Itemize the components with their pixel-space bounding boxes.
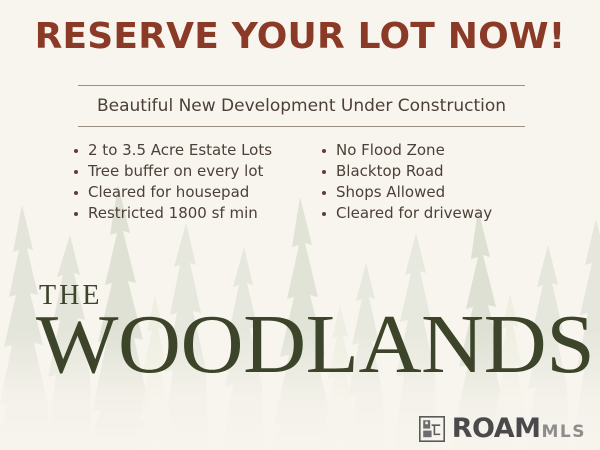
- promotional-poster: RESERVE YOUR LOT NOW! Beautiful New Deve…: [0, 0, 600, 450]
- roam-mls-text: ROAM MLS: [452, 415, 586, 442]
- list-item: Tree buffer on every lot: [70, 161, 292, 182]
- subtitle-text: Beautiful New Development Under Construc…: [78, 86, 525, 126]
- list-item: Blacktop Road: [318, 161, 540, 182]
- list-item: Cleared for driveway: [318, 203, 540, 224]
- feature-list: 2 to 3.5 Acre Estate Lots Tree buffer on…: [70, 140, 540, 224]
- list-item: 2 to 3.5 Acre Estate Lots: [70, 140, 292, 161]
- feature-column-right: No Flood Zone Blacktop Road Shops Allowe…: [318, 140, 540, 224]
- wordmark-name: WOODLANDS: [36, 306, 587, 383]
- divider-bottom: [78, 126, 525, 127]
- subtitle-block: Beautiful New Development Under Construc…: [78, 85, 525, 127]
- roam-brand-text: ROAM: [452, 415, 541, 442]
- list-item: Shops Allowed: [318, 182, 540, 203]
- mls-suffix-text: MLS: [542, 424, 587, 441]
- house-blueprint-icon: [419, 416, 445, 442]
- page-title: RESERVE YOUR LOT NOW!: [0, 19, 600, 55]
- list-item: Cleared for housepad: [70, 182, 292, 203]
- list-item: No Flood Zone: [318, 140, 540, 161]
- roam-mls-logo: ROAM MLS: [419, 415, 586, 442]
- feature-column-left: 2 to 3.5 Acre Estate Lots Tree buffer on…: [70, 140, 292, 224]
- list-item: Restricted 1800 sf min: [70, 203, 292, 224]
- development-wordmark: THE WOODLANDS: [36, 282, 566, 383]
